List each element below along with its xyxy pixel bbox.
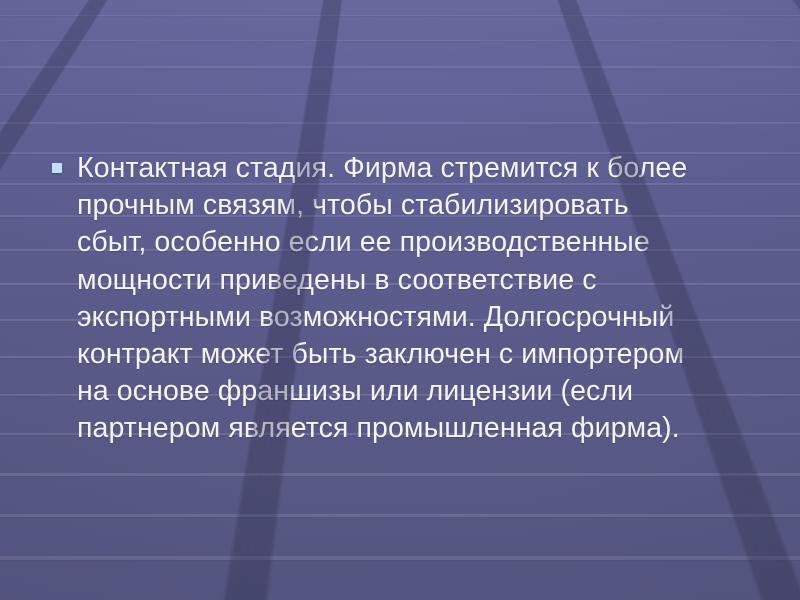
slide-content: Контактная стадия. Фирма стремится к бол… — [0, 0, 800, 600]
list-item: Контактная стадия. Фирма стремится к бол… — [52, 150, 752, 448]
bullet-paragraph: Контактная стадия. Фирма стремится к бол… — [77, 150, 752, 448]
square-bullet-icon — [52, 163, 62, 173]
presentation-slide: Контактная стадия. Фирма стремится к бол… — [0, 0, 800, 600]
